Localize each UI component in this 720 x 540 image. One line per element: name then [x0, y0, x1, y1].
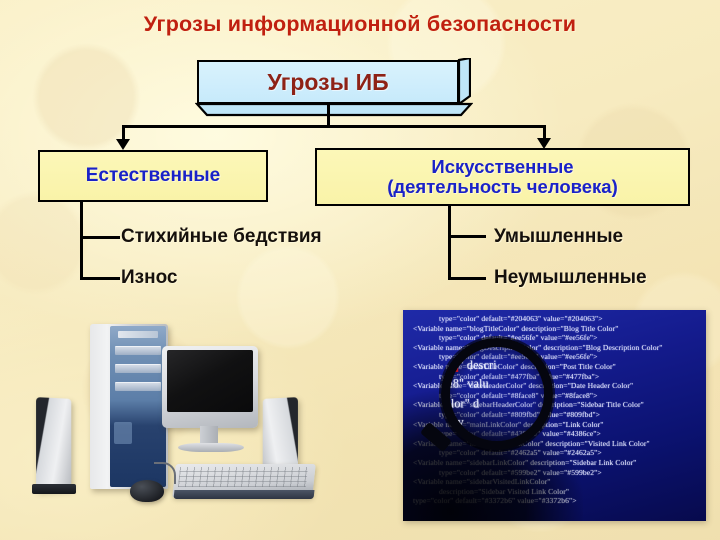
code-line: <Variable name="sidebarVisitedLinkColor" — [413, 477, 700, 487]
code-line: <Variable name="blogTitleColor" descript… — [413, 324, 700, 334]
root-box-3d-side — [457, 58, 471, 106]
leaf-artificial-intentional: Умышленные — [494, 226, 623, 248]
arrow-down-icon-left — [116, 139, 130, 150]
tower-logo-strip — [118, 331, 158, 338]
code-line: description="Sidebar Visited Link Color" — [413, 487, 700, 497]
monitor-stand-base — [178, 443, 244, 452]
magnified-code-line: dateHeaderBUG" descri — [441, 356, 553, 375]
connector-horizontal-bar — [122, 125, 546, 128]
bracket-natural-stub-1 — [80, 236, 120, 239]
code-line: <Variable name="sidebarLinkColor" descri… — [413, 458, 700, 468]
bracket-natural-vertical — [80, 202, 83, 280]
monitor-screen — [167, 350, 253, 412]
keyboard-palm-rest — [174, 490, 315, 499]
code-line: type="color" default="#ee56fe" value="#e… — [413, 333, 700, 343]
bracket-natural-stub-2 — [80, 277, 120, 280]
drive-bay-2 — [115, 364, 161, 373]
leaf-natural-wear: Износ — [121, 267, 178, 289]
code-line: type="color" default="#599be2" value="#5… — [413, 468, 700, 478]
node-artificial-threats-label-line1: Искусственные — [431, 157, 573, 177]
mouse-cord — [154, 462, 176, 484]
node-artificial-threats[interactable]: Искусственные (деятельность человека) — [315, 148, 690, 206]
magnified-code-line: debarHeaderColor" d — [441, 394, 553, 413]
node-artificial-threats-label-line2: (деятельность человека) — [387, 177, 618, 197]
leaf-artificial-unintentional: Неумышленные — [494, 267, 647, 289]
drive-bay-1 — [115, 346, 161, 355]
speaker-left-base — [32, 484, 76, 494]
magnifier-icon: ault="#ee56festTitleColor" descridefault… — [441, 338, 553, 450]
mouse — [130, 480, 164, 502]
code-line: type="color" default="#2462a5" value="#2… — [413, 448, 700, 458]
bracket-artificial-stub-2 — [448, 277, 486, 280]
magnified-code-container: ault="#ee56festTitleColor" descridefault… — [441, 338, 553, 450]
drive-bay-3 — [115, 382, 161, 391]
node-root-threats-label: Угрозы ИБ — [267, 69, 388, 96]
slide-canvas: Угрозы информационной безопасности Угроз… — [0, 0, 720, 540]
leaf-natural-disasters: Стихийные бедствия — [121, 226, 322, 248]
connector-root-vertical — [327, 104, 330, 127]
node-root-threats[interactable]: Угрозы ИБ — [197, 60, 459, 104]
magnified-code-tail: " descri — [459, 357, 497, 371]
magnified-code-line: default="#8face8" valu — [441, 375, 553, 394]
bracket-artificial-stub-1 — [448, 235, 486, 238]
speaker-left — [36, 397, 71, 491]
desktop-computer-photo — [22, 312, 322, 524]
bracket-artificial-vertical — [448, 206, 451, 280]
magnified-code-line: fault="#809fbd" v — [441, 414, 553, 433]
root-box-3d-bottom — [195, 102, 473, 118]
node-natural-threats[interactable]: Естественные — [38, 150, 268, 202]
node-natural-threats-label: Естественные — [86, 166, 220, 187]
code-line: type="color" default="#204063" value="#2… — [413, 314, 700, 324]
code-line: type="color" default="#3372b6" value="#3… — [413, 496, 700, 506]
tower-power-panel — [114, 422, 132, 444]
keyboard-keys — [178, 467, 308, 487]
code-screen-photo: type="color" default="#204063" value="#2… — [403, 310, 706, 521]
